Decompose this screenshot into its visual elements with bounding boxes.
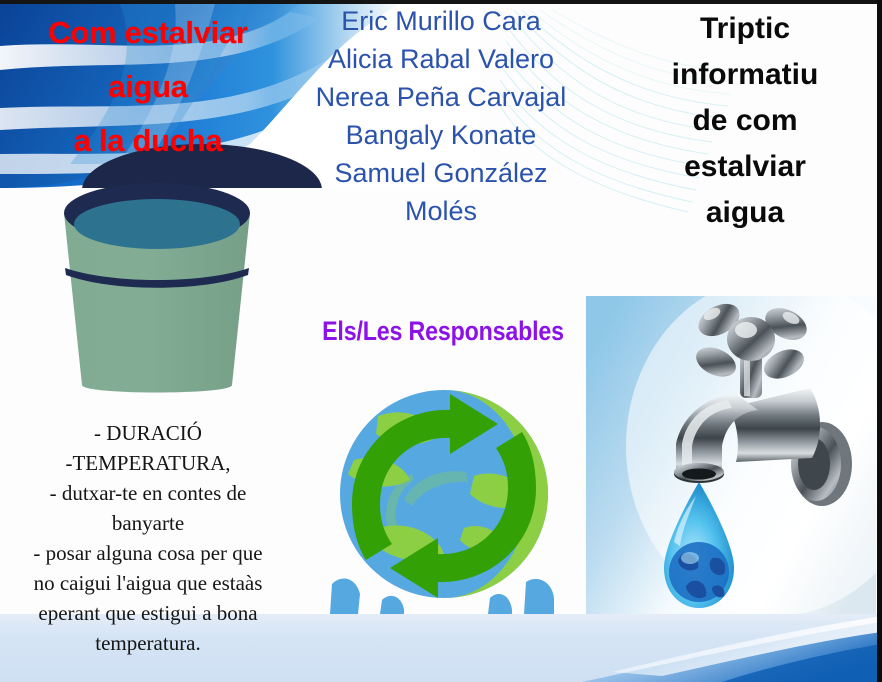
tips-line: banyarte [0,508,296,538]
poster-title-line-1: Com estalviar [0,6,296,60]
author-name: Alicia Rabal Valero [296,40,586,78]
poster-title-line-3: a la ducha [0,114,296,168]
poster-title-line-2: aigua [0,60,296,114]
faucet-photo [586,296,876,614]
tips-line: eperant que estigui a bona [0,598,296,628]
tips-line: - dutxar-te en contes de [0,478,296,508]
subtitle-line: Triptic [620,6,870,52]
subtitle-line: informatiu [620,52,870,98]
water-bucket-icon [52,180,262,405]
tips-text-block: - DURACIÓ -TEMPERATURA, - dutxar-te en c… [0,418,296,658]
author-name: Samuel González [296,154,586,192]
frame-right-edge [877,0,882,682]
author-name: Molés [296,192,586,230]
poster-title: Com estalviar aigua a la ducha [0,6,296,168]
tips-line: - DURACIÓ [0,418,296,448]
author-list: Eric Murillo Cara Alicia Rabal Valero Ne… [296,2,586,230]
tips-line: no caigui l'aigua que estaàs [0,568,296,598]
bottom-blue-swoosh-icon [462,614,882,682]
frame-top-edge [0,0,882,4]
subtitle-line: estalviar [620,144,870,190]
tips-line: - posar alguna cosa per que [0,538,296,568]
subtitle-line: de com [620,98,870,144]
recycle-globe-icon [318,388,570,614]
subtitle-line: aigua [620,190,870,236]
author-name: Nerea Peña Carvajal [296,78,586,116]
tips-line: -TEMPERATURA, [0,448,296,478]
author-name: Bangaly Konate [296,116,586,154]
tips-line: temperatura. [0,628,296,658]
subtitle-heading: Triptic informatiu de com estalviar aigu… [620,6,870,236]
poster-canvas: Com estalviar aigua a la ducha Eric Muri… [0,0,882,682]
section-heading-responsables: Els/Les Responsables [320,316,566,347]
author-name: Eric Murillo Cara [296,2,586,40]
